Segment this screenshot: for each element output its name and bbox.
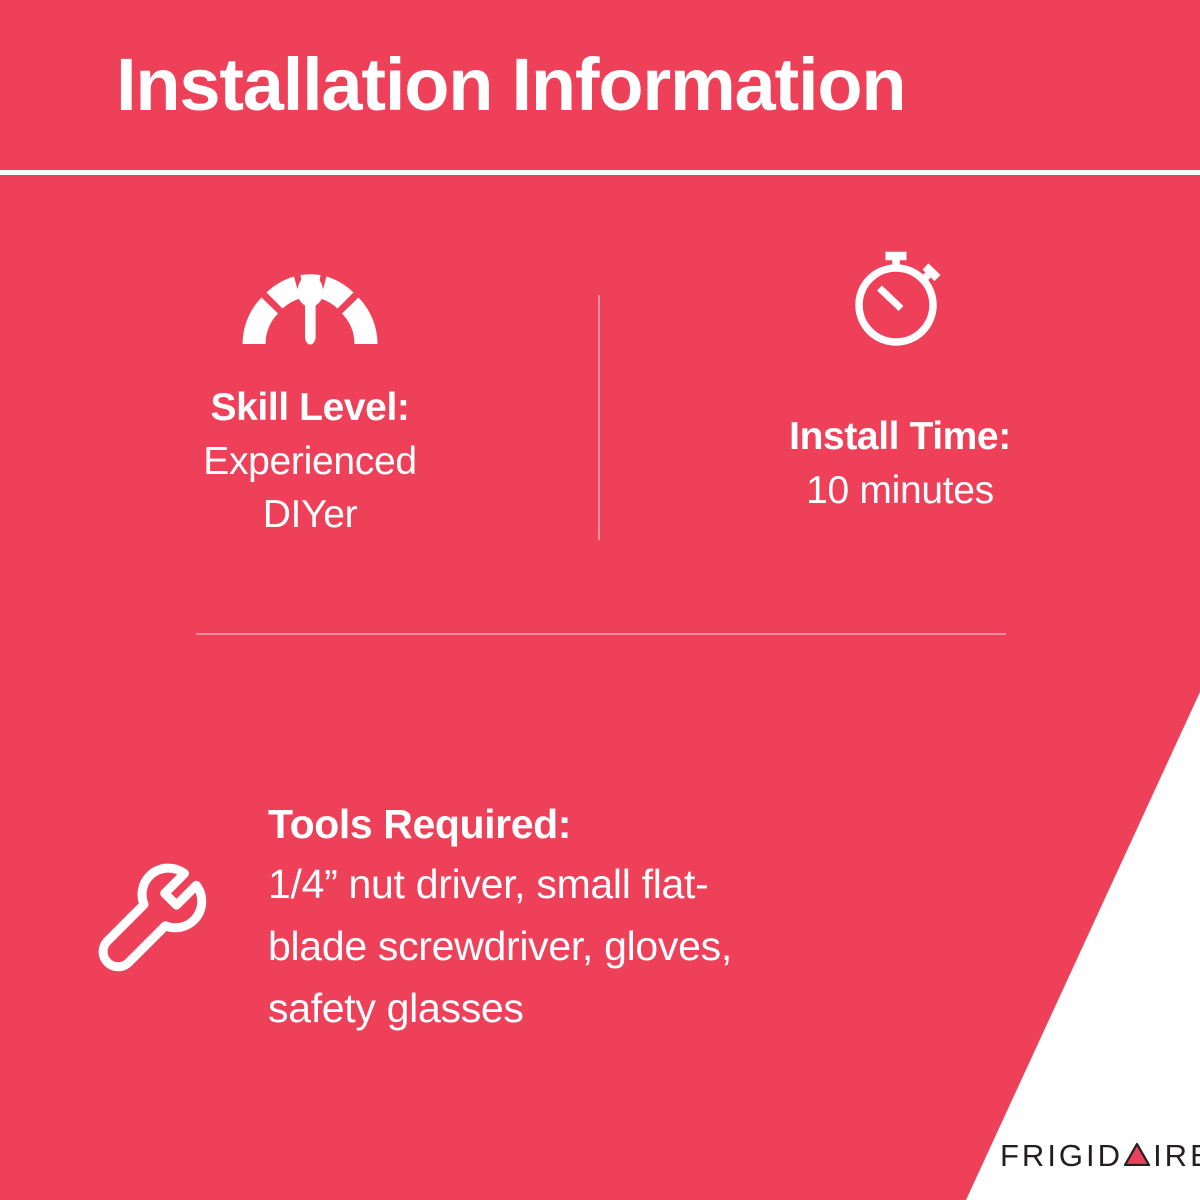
tools-required-value-line1: 1/4” nut driver, small flat- [268, 853, 988, 915]
install-time-value: 10 minutes [640, 464, 1160, 517]
tools-required-value-line3: safety glasses [268, 977, 988, 1039]
skill-level-value-line2: DIYer [60, 488, 560, 541]
section-divider [196, 633, 1006, 635]
brand-name-part2: IRE [1153, 1139, 1200, 1173]
stopwatch-icon [640, 255, 1160, 347]
frigidaire-logo: FRIGID IRE . [1000, 1139, 1200, 1173]
info-row: Skill Level: Experienced DIYer [0, 255, 1200, 555]
tools-required-text: Tools Required: 1/4” nut driver, small f… [268, 795, 988, 1039]
brand-name-part1: FRIGID [1000, 1139, 1123, 1173]
tools-required-value-line2: blade screwdriver, gloves, [268, 915, 988, 977]
column-divider [598, 295, 600, 540]
tools-required-label: Tools Required: [268, 795, 988, 853]
header-divider [0, 170, 1200, 175]
installation-information-card: Installation Information [0, 0, 1200, 1200]
gauge-wrench-icon [60, 255, 560, 347]
skill-level-block: Skill Level: Experienced DIYer [60, 255, 560, 541]
wrench-icon [88, 853, 210, 975]
card-header: Installation Information [0, 0, 1200, 172]
brand-triangle-a-icon [1124, 1143, 1150, 1166]
skill-level-value-line1: Experienced [60, 435, 560, 488]
skill-level-label: Skill Level: [60, 381, 560, 435]
install-time-block: Install Time: 10 minutes [640, 255, 1160, 517]
install-time-label: Install Time: [640, 410, 1160, 464]
page-title: Installation Information [116, 42, 905, 128]
